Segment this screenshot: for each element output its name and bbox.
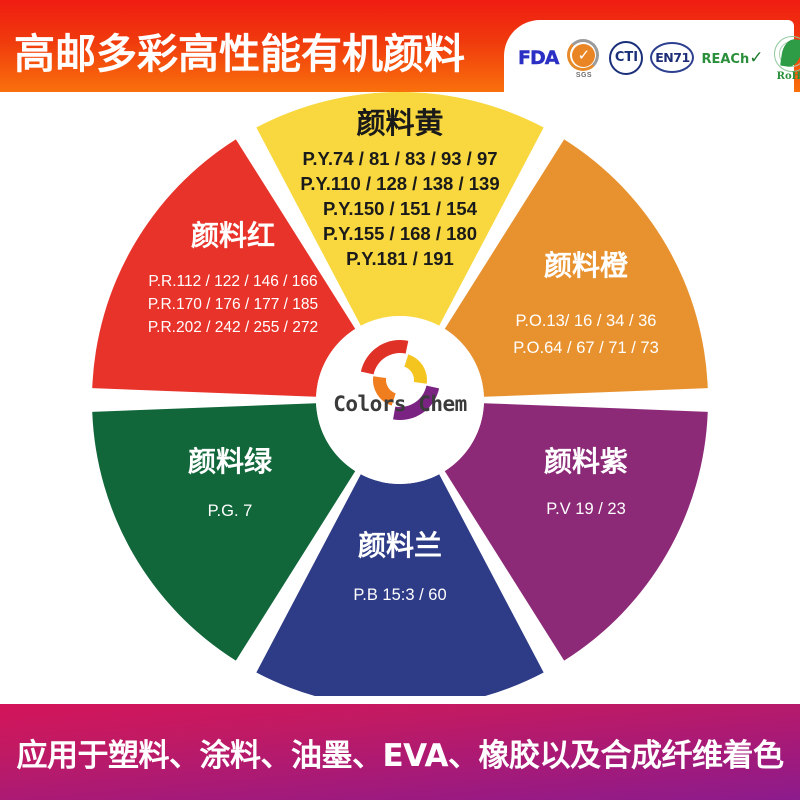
en71-certification-icon: EN71 xyxy=(650,42,694,73)
cti-label: CTI xyxy=(609,41,643,75)
cti-certification-icon: CTI xyxy=(609,41,643,75)
reach-certification-icon: REACh✓ xyxy=(701,48,763,68)
rohs-certification-icon: RoHS xyxy=(770,36,800,80)
company-logo: Colors Chem xyxy=(318,320,482,484)
rohs-label: RoHS xyxy=(770,71,800,82)
sgs-label: SGS xyxy=(565,72,602,79)
poster-root: 高邮多彩高性能有机颜料 FDA ✓ SGS CTI EN71 REACh✓ xyxy=(0,0,800,800)
logo-wordmark: Colors Chem xyxy=(318,392,482,416)
footer-tagline: 应用于塑料、涂料、油墨、EVA、橡胶以及合成纤维着色 xyxy=(16,730,783,775)
page-title: 高邮多彩高性能有机颜料 xyxy=(14,20,465,80)
fda-label: FDA xyxy=(518,47,558,69)
reach-check-icon: ✓ xyxy=(749,48,763,68)
sgs-certification-icon: ✓ SGS xyxy=(565,38,602,78)
reach-label: REACh xyxy=(701,52,749,67)
en71-label: EN71 xyxy=(650,42,694,73)
header-banner: 高邮多彩高性能有机颜料 FDA ✓ SGS CTI EN71 REACh✓ xyxy=(0,0,800,92)
sgs-check-icon: ✓ xyxy=(572,44,595,67)
footer-banner: 应用于塑料、涂料、油墨、EVA、橡胶以及合成纤维着色 xyxy=(0,704,800,800)
logo-swirl-icon xyxy=(348,328,452,432)
fda-certification-icon: FDA xyxy=(518,47,558,69)
certification-logo-strip: FDA ✓ SGS CTI EN71 REACh✓ RoHS xyxy=(504,20,794,92)
pigment-color-wheel: 颜料黄 P.Y.74 / 81 / 83 / 93 / 97 P.Y.110 /… xyxy=(0,92,800,696)
